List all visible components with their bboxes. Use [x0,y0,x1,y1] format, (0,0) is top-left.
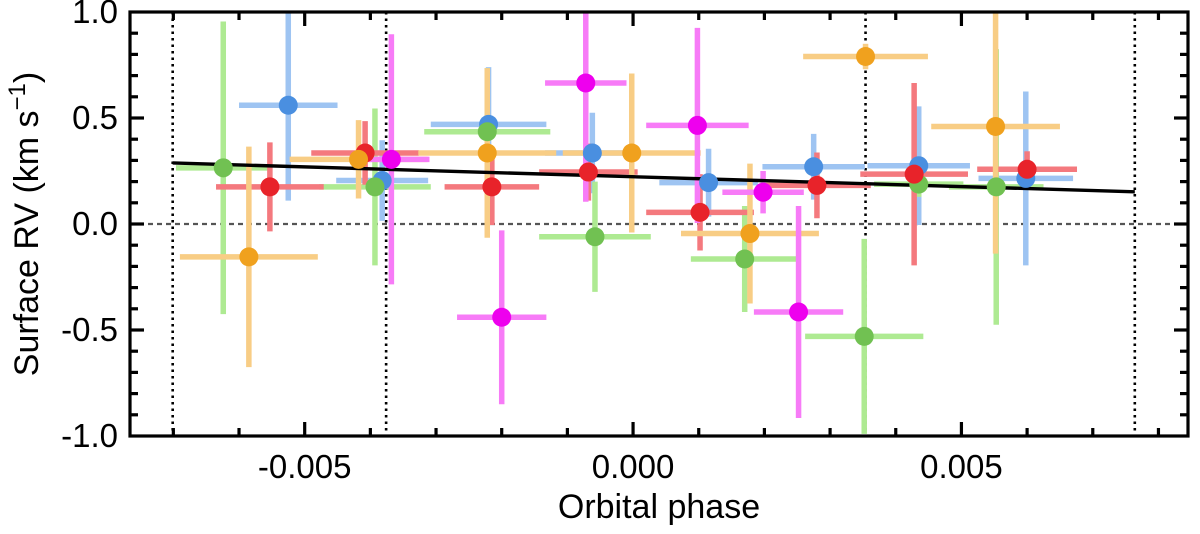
data-point-green-6 [987,177,1006,196]
y-axis-label: Surface RV (km s−1) [4,72,46,376]
data-point-orange-1 [349,150,368,169]
errorbars-magenta [353,0,843,418]
data-point-green-3 [585,227,604,246]
data-point-red-5 [807,176,826,195]
data-point-magenta-4 [789,302,808,321]
data-point-red-6 [905,165,924,184]
data-point-orange-6 [986,117,1005,136]
data-point-orange-2 [478,143,497,162]
chart-svg: Surface RV (km s−1)Orbital phase-0.0050.… [0,0,1200,534]
y-tick-label-2: 0.0 [72,205,118,242]
y-axis-label-text: Surface RV (km s−1) [4,72,46,376]
y-tick-label-4: 1.0 [72,0,118,30]
data-point-red-0 [260,177,279,196]
data-point-magenta-3 [688,116,707,135]
data-point-orange-5 [856,47,875,66]
data-point-blue-0 [279,96,298,115]
data-point-green-4 [735,249,754,268]
y-axis-label-paren: ) [8,72,46,83]
data-point-magenta-5 [754,183,773,202]
data-point-orange-0 [239,247,258,266]
x-tick-label-1: 0.000 [592,448,675,485]
data-point-magenta-1 [492,308,511,327]
data-point-blue-4 [699,173,718,192]
x-axis-label: Orbital phase [558,488,760,526]
data-point-blue-3 [583,143,602,162]
data-point-red-3 [579,163,598,182]
data-point-red-4 [691,203,710,222]
data-point-magenta-2 [576,74,595,93]
y-tick-label-0: -1.0 [61,417,118,454]
points-orange [239,47,1005,266]
y-tick-label-1: -0.5 [61,311,118,348]
data-layer [173,0,1135,434]
x-tick-label-2: 0.005 [920,448,1003,485]
y-axis-label-main: Surface RV (km s [8,110,46,376]
x-tick-label-0: -0.005 [258,448,352,485]
data-point-orange-4 [740,224,759,243]
data-point-red-2 [482,177,501,196]
data-point-blue-5 [804,157,823,176]
data-point-magenta-0 [382,150,401,169]
chart-figure: Surface RV (km s−1)Orbital phase-0.0050.… [0,0,1200,534]
data-point-red-7 [1018,160,1037,179]
data-point-green-5 [855,327,874,346]
y-axis-label-exponent: −1 [4,83,31,110]
data-point-green-0 [214,158,233,177]
data-point-green-1 [365,177,384,196]
data-point-green-2 [478,122,497,141]
y-tick-label-3: 0.5 [72,99,118,136]
data-point-orange-3 [622,143,641,162]
